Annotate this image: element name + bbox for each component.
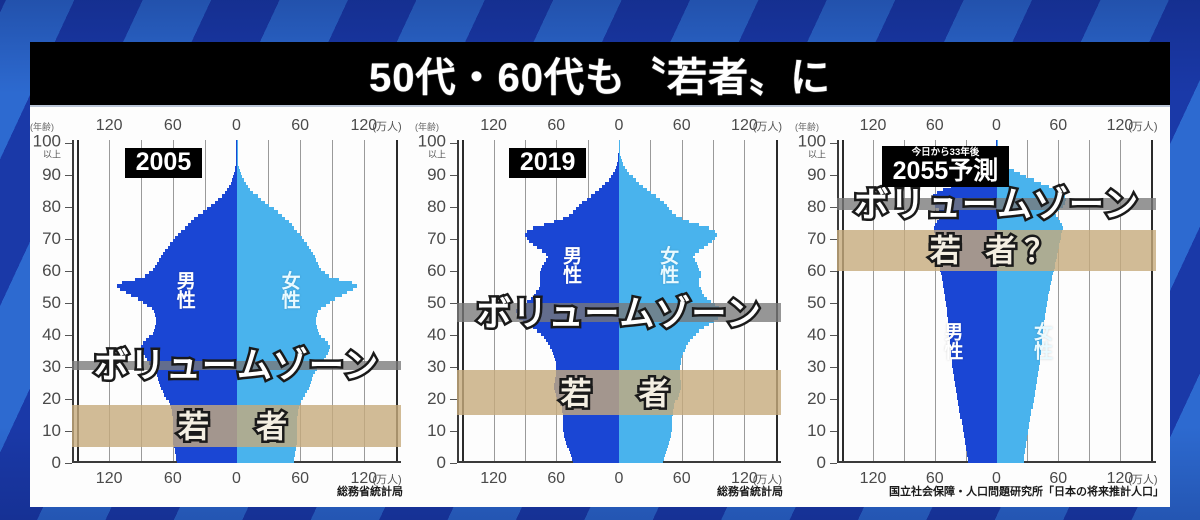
x-axis-labels-top: 12060060120(万人)	[72, 118, 401, 134]
y-tick-label-0: 0	[437, 454, 446, 471]
y-tick-label-50: 50	[807, 294, 826, 311]
x-tick-label-60: 60	[673, 118, 691, 134]
x-tick-label-0: 0	[615, 471, 624, 487]
x-tick-label-120: 120	[96, 471, 123, 487]
female-legend-label: 女性	[658, 246, 677, 284]
year-label: 2005	[136, 150, 192, 175]
x-tick-label-60: 60	[547, 471, 565, 487]
y-tick-30	[830, 367, 837, 368]
y-tick-label-90: 90	[427, 166, 446, 183]
y-tick-60	[65, 271, 72, 272]
female-legend-label: 女性	[1032, 322, 1051, 360]
y-tick-label-60: 60	[427, 262, 446, 279]
x-tick-label-120: 120	[480, 471, 507, 487]
x-tick-label-60: 60	[291, 118, 309, 134]
chart-source-2055: 国立社会保障・人口問題研究所「日本の将来推計人口」	[889, 483, 1164, 499]
x-tick-label-0: 0	[992, 118, 1001, 134]
title-bar: 50代・60代も〝若者〟に	[30, 42, 1170, 105]
pop-axis-unit: (万人)	[1128, 122, 1157, 133]
y-tick-label-60: 60	[807, 262, 826, 279]
y-tick-20	[830, 399, 837, 400]
y-tick-60	[450, 271, 457, 272]
y-tick-100	[450, 143, 457, 144]
volume-zone-label: ボリュームゾーン	[50, 338, 423, 389]
y-tick-10	[830, 431, 837, 432]
plot-area-2055: 0102030405060708090100以上(年齢)12060060120(…	[837, 140, 1156, 463]
y-tick-label-100: 100以上	[33, 133, 61, 161]
y-tick-50	[830, 303, 837, 304]
y-top-sub: 以上	[418, 151, 446, 161]
y-tick-100	[830, 143, 837, 144]
x-axis-labels-top: 12060060120(万人)	[457, 118, 781, 134]
y-tick-90	[450, 175, 457, 176]
y-tick-70	[830, 239, 837, 240]
y-tick-40	[65, 335, 72, 336]
volume-zone-label: ボリュームゾーン	[435, 285, 803, 336]
female-legend-label: 女性	[279, 271, 298, 309]
x-tick-label-60: 60	[673, 471, 691, 487]
y-tick-label-70: 70	[427, 230, 446, 247]
y-tick-label-70: 70	[42, 230, 61, 247]
age-axis-unit: (年齢)	[30, 120, 54, 133]
youth-label: 若 者	[72, 402, 401, 447]
y-tick-label-60: 60	[42, 262, 61, 279]
page-title: 50代・60代も〝若者〟に	[369, 45, 831, 103]
y-tick-0	[830, 463, 837, 464]
year-label: 2019	[520, 150, 576, 175]
age-axis-unit: (年齢)	[795, 120, 819, 133]
y-tick-label-80: 80	[427, 198, 446, 215]
screenshot-root: 50代・60代も〝若者〟に 0102030405060708090100以上(年…	[0, 0, 1200, 520]
x-tick-label-60: 60	[164, 118, 182, 134]
year-label: 2055予測	[893, 159, 999, 184]
youth-label: 若 者？	[837, 226, 1156, 271]
x-tick-label-120: 120	[860, 471, 887, 487]
x-tick-label-0: 0	[615, 118, 624, 134]
x-tick-label-0: 0	[232, 118, 241, 134]
y-tick-label-50: 50	[42, 294, 61, 311]
plot-area-2019: 0102030405060708090100以上(年齢)12060060120(…	[457, 140, 781, 463]
pop-axis-unit: (万人)	[753, 122, 782, 133]
y-tick-label-100: 100以上	[798, 133, 826, 161]
x-tick-label-60: 60	[164, 471, 182, 487]
male-legend-label: 男性	[942, 322, 961, 360]
y-tick-label-10: 10	[42, 422, 61, 439]
y-tick-label-100: 100以上	[418, 133, 446, 161]
male-legend-label: 男性	[561, 246, 580, 284]
y-tick-label-10: 10	[807, 422, 826, 439]
y-tick-label-70: 70	[807, 230, 826, 247]
y-tick-0	[450, 463, 457, 464]
y-tick-60	[830, 271, 837, 272]
x-tick-label-60: 60	[547, 118, 565, 134]
y-tick-0	[65, 463, 72, 464]
y-tick-10	[65, 431, 72, 432]
x-tick-label-120: 120	[860, 118, 887, 134]
male-legend-label: 男性	[174, 271, 193, 309]
chart-2005: 0102030405060708090100以上(年齢)12060060120(…	[30, 107, 415, 507]
y-tick-10	[450, 431, 457, 432]
y-tick-label-20: 20	[807, 390, 826, 407]
y-tick-70	[65, 239, 72, 240]
y-tick-80	[450, 207, 457, 208]
y-top-sub: 以上	[798, 151, 826, 161]
age-axis-unit: (年齢)	[415, 120, 439, 133]
y-tick-label-0: 0	[817, 454, 826, 471]
y-tick-20	[450, 399, 457, 400]
y-tick-label-40: 40	[807, 326, 826, 343]
y-tick-label-10: 10	[427, 422, 446, 439]
x-tick-label-120: 120	[96, 118, 123, 134]
y-tick-label-30: 30	[427, 358, 446, 375]
chart-2055: 0102030405060708090100以上(年齢)12060060120(…	[795, 107, 1170, 507]
y-tick-90	[65, 175, 72, 176]
chart-source-2005: 総務省統計局	[337, 483, 403, 499]
female-bar	[619, 140, 620, 144]
y-tick-30	[450, 367, 457, 368]
chart-2019: 0102030405060708090100以上(年齢)12060060120(…	[415, 107, 795, 507]
pop-axis-unit: (万人)	[372, 122, 401, 133]
y-tick-label-90: 90	[42, 166, 61, 183]
x-tick-label-60: 60	[1049, 118, 1067, 134]
y-tick-80	[65, 207, 72, 208]
year-tag-2005: 2005	[125, 148, 203, 178]
y-tick-label-80: 80	[42, 198, 61, 215]
y-tick-label-20: 20	[427, 390, 446, 407]
y-tick-50	[65, 303, 72, 304]
y-tick-70	[450, 239, 457, 240]
x-tick-label-120: 120	[480, 118, 507, 134]
year-tag-2055予測: 今日から33年後2055予測	[882, 146, 1010, 187]
chart-source-2019: 総務省統計局	[717, 483, 783, 499]
y-tick-40	[830, 335, 837, 336]
y-tick-label-20: 20	[42, 390, 61, 407]
y-tick-label-0: 0	[52, 454, 61, 471]
charts-panel: 0102030405060708090100以上(年齢)12060060120(…	[30, 105, 1170, 507]
x-tick-label-60: 60	[926, 118, 944, 134]
y-top-sub: 以上	[33, 151, 61, 161]
year-tag-2019: 2019	[509, 148, 587, 178]
youth-label: 若 者	[457, 368, 781, 413]
x-tick-label-60: 60	[291, 471, 309, 487]
plot-area-2005: 0102030405060708090100以上(年齢)12060060120(…	[72, 140, 401, 463]
y-tick-20	[65, 399, 72, 400]
x-axis-labels-top: 12060060120(万人)	[837, 118, 1156, 134]
y-tick-label-30: 30	[807, 358, 826, 375]
x-tick-label-0: 0	[232, 471, 241, 487]
female-bar	[997, 140, 998, 144]
y-tick-100	[65, 143, 72, 144]
